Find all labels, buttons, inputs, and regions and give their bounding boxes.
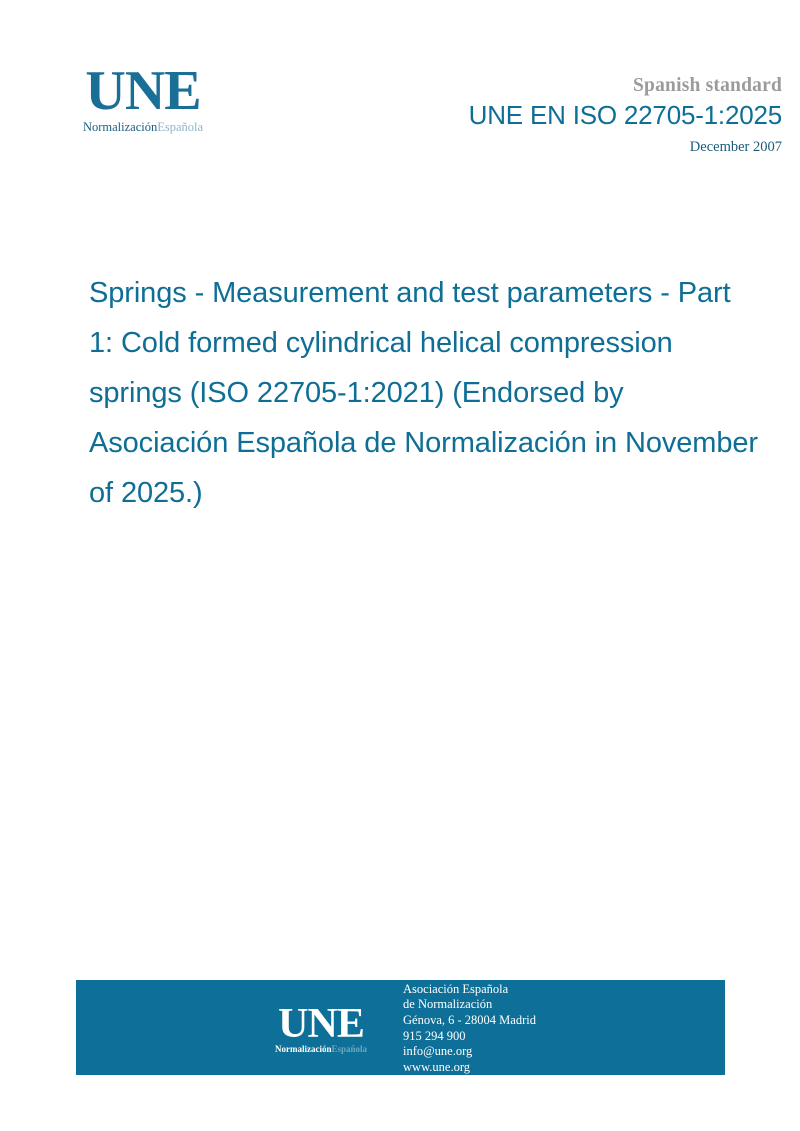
document-title: Springs - Measurement and test parameter… — [89, 268, 759, 518]
footer-une-logo-subtitle-primary: Normalización — [275, 1044, 332, 1054]
page-header: UNE NormalizaciónEspañola Spanish standa… — [0, 0, 800, 200]
une-logo-subtitle: NormalizaciónEspañola — [78, 121, 208, 134]
standard-date: December 2007 — [312, 138, 782, 157]
footer-une-logo-subtitle-secondary: Española — [332, 1044, 368, 1054]
une-logo-wordmark: UNE — [78, 66, 208, 118]
footer-une-logo-subtitle: NormalizaciónEspañola — [265, 1045, 377, 1054]
footer-une-logo-wordmark: UNE — [265, 1005, 377, 1044]
standard-meta-block: Spanish standard UNE EN ISO 22705-1:2025… — [312, 74, 782, 157]
footer-contact-info: Asociación Española de Normalización Gén… — [403, 982, 536, 1076]
footer-une-logo: UNE NormalizaciónEspañola — [265, 1005, 377, 1055]
footer-content: UNE NormalizaciónEspañola Asociación Esp… — [76, 980, 725, 1075]
standard-kind-label: Spanish standard — [312, 74, 782, 98]
une-logo-subtitle-secondary: Española — [157, 120, 203, 134]
footer-band: UNE NormalizaciónEspañola Asociación Esp… — [76, 980, 725, 1075]
une-logo-subtitle-primary: Normalización — [83, 120, 157, 134]
standard-number: UNE EN ISO 22705-1:2025 — [312, 99, 782, 133]
une-logo: UNE NormalizaciónEspañola — [78, 66, 208, 133]
